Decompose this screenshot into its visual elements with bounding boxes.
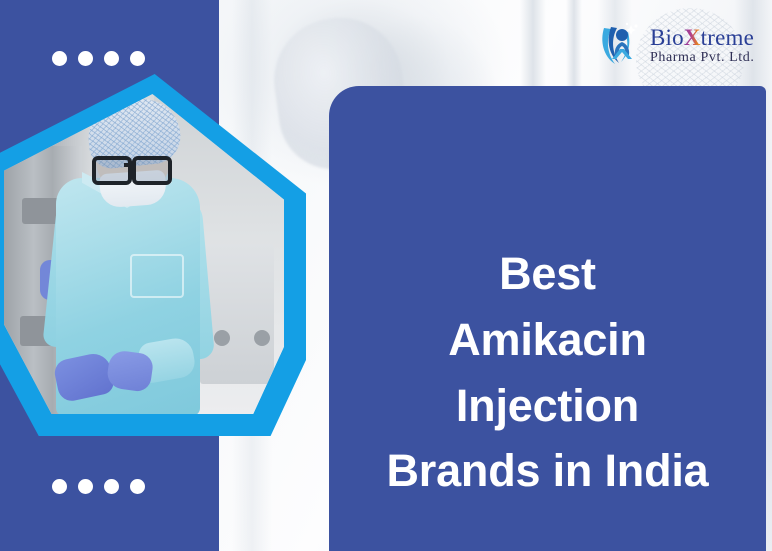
decorative-dot [104, 479, 119, 494]
headline-panel: Best Amikacin Injection Brands in India [329, 86, 766, 551]
logo-name-part1: Bio [650, 25, 684, 50]
photo-coat-pocket [130, 254, 184, 298]
decorative-dot [78, 51, 93, 66]
brand-logo[interactable]: BioXtreme Pharma Pvt. Ltd. [598, 19, 758, 69]
decorative-dot [130, 51, 145, 66]
page-title: Best Amikacin Injection Brands in India [360, 241, 734, 504]
decorative-dot [104, 51, 119, 66]
decorative-dot [130, 479, 145, 494]
headline-line-3: Injection [386, 373, 708, 439]
photo-lens-left [92, 156, 132, 185]
headline-line-1: Best [386, 241, 708, 307]
headline-line-2: Amikacin [386, 307, 708, 373]
decorative-dot [52, 51, 67, 66]
bioxtreme-figure-mark-icon [598, 21, 644, 67]
headline-line-4: Brands in India [386, 438, 708, 504]
photo-cart-wheel [254, 330, 270, 346]
photo-cart-wheel [214, 330, 230, 346]
dot-cluster-top [52, 51, 145, 66]
logo-name-accent-x: X [684, 25, 701, 50]
dot-cluster-bottom [52, 479, 145, 494]
photo-lens-right [132, 156, 172, 185]
decorative-dot [78, 479, 93, 494]
logo-subtitle-text: Pharma Pvt. Ltd. [650, 50, 754, 65]
photo-eyeglasses [92, 156, 170, 178]
promo-banner: Best Amikacin Injection Brands in India … [0, 0, 772, 551]
logo-name-part2: treme [701, 25, 754, 50]
decorative-dot [52, 479, 67, 494]
logo-name: BioXtreme [650, 26, 754, 49]
logo-wordmark: BioXtreme Pharma Pvt. Ltd. [650, 24, 754, 65]
heptagon-photo-frame [0, 74, 306, 436]
logo-subtitle: Pharma Pvt. Ltd. [650, 51, 754, 65]
